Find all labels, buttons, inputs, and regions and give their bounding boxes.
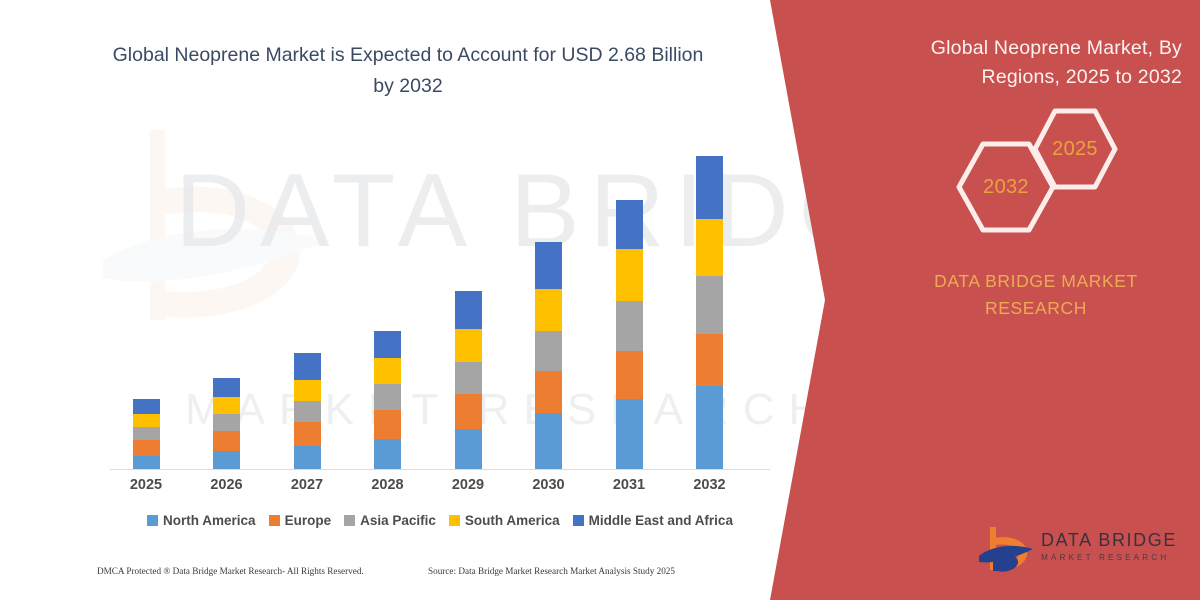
legend-label: Middle East and Africa <box>589 513 733 528</box>
data-bridge-logo: DATA BRIDGE MARKET RESEARCH <box>977 522 1182 580</box>
bar-2029[interactable] <box>455 291 482 469</box>
bar-segment[interactable] <box>696 276 723 334</box>
bar-segment[interactable] <box>535 371 562 413</box>
x-axis-label-2026: 2026 <box>197 477 257 493</box>
logo-text-line1: DATA BRIDGE <box>1041 530 1181 551</box>
logo-text-line2: MARKET RESEARCH <box>1041 551 1181 564</box>
logo-mark-icon <box>977 524 1035 576</box>
bar-segment[interactable] <box>535 331 562 371</box>
footer-source: Source: Data Bridge Market Research Mark… <box>428 566 675 576</box>
legend-item[interactable]: Middle East and Africa <box>573 513 733 528</box>
bar-segment[interactable] <box>535 242 562 289</box>
bar-segment[interactable] <box>535 413 562 469</box>
bar-segment[interactable] <box>696 219 723 276</box>
hexagon-2032: 2032 <box>956 141 1056 233</box>
legend-swatch-icon <box>449 515 460 526</box>
bar-2025[interactable] <box>133 399 160 469</box>
legend-swatch-icon <box>573 515 584 526</box>
bar-segment[interactable] <box>455 429 482 469</box>
bar-2032[interactable] <box>696 156 723 469</box>
bar-segment[interactable] <box>294 422 321 446</box>
bar-segment[interactable] <box>294 380 321 401</box>
bar-2028[interactable] <box>374 331 401 469</box>
bar-2031[interactable] <box>616 200 643 469</box>
infographic-root: DATA BRIDGE MARKET RESEARCH Global Neopr… <box>0 0 1200 600</box>
bar-segment[interactable] <box>616 399 643 469</box>
x-axis-label-2032: 2032 <box>680 477 740 493</box>
bar-segment[interactable] <box>616 301 643 351</box>
bar-segment[interactable] <box>133 427 160 440</box>
bar-segment[interactable] <box>455 362 482 394</box>
bar-2027[interactable] <box>294 353 321 469</box>
legend-label: Europe <box>285 513 332 528</box>
hexagon-2032-label: 2032 <box>956 141 1056 233</box>
footer-copyright: DMCA Protected ® Data Bridge Market Rese… <box>97 566 364 576</box>
bar-segment[interactable] <box>213 431 240 451</box>
x-axis-label-2027: 2027 <box>277 477 337 493</box>
bar-2030[interactable] <box>535 242 562 469</box>
bar-segment[interactable] <box>455 291 482 329</box>
bar-segment[interactable] <box>294 353 321 380</box>
legend-swatch-icon <box>344 515 355 526</box>
bar-segment[interactable] <box>133 399 160 414</box>
legend-item[interactable]: Europe <box>269 513 332 528</box>
bar-segment[interactable] <box>696 386 723 469</box>
legend-item[interactable]: Asia Pacific <box>344 513 436 528</box>
legend-item[interactable]: South America <box>449 513 560 528</box>
x-axis-label-2029: 2029 <box>438 477 498 493</box>
legend-label: North America <box>163 513 256 528</box>
x-axis-label-2025: 2025 <box>116 477 176 493</box>
page-title: Global Neoprene Market is Expected to Ac… <box>108 40 708 102</box>
bar-segment[interactable] <box>294 401 321 422</box>
brand-name: DATA BRIDGE MARKET RESEARCH <box>896 268 1176 322</box>
bar-segment[interactable] <box>133 414 160 427</box>
legend-label: Asia Pacific <box>360 513 436 528</box>
bar-segment[interactable] <box>374 331 401 358</box>
x-axis-line <box>110 469 770 470</box>
bar-segment[interactable] <box>696 156 723 219</box>
bar-segment[interactable] <box>535 289 562 331</box>
x-axis-label-2031: 2031 <box>599 477 659 493</box>
bar-segment[interactable] <box>616 200 643 249</box>
x-axis-label-2030: 2030 <box>519 477 579 493</box>
bar-segment[interactable] <box>213 414 240 431</box>
bar-segment[interactable] <box>616 351 643 399</box>
panel-title: Global Neoprene Market, By Regions, 2025… <box>892 34 1182 92</box>
bar-segment[interactable] <box>133 440 160 456</box>
legend-swatch-icon <box>269 515 280 526</box>
bar-segment[interactable] <box>374 439 401 469</box>
footer: DMCA Protected ® Data Bridge Market Rese… <box>0 566 790 590</box>
bar-segment[interactable] <box>616 249 643 301</box>
bar-segment[interactable] <box>696 334 723 386</box>
hexagon-group: 2025 2032 <box>902 108 1122 238</box>
legend-label: South America <box>465 513 560 528</box>
x-axis-labels: 20252026202720282029203020312032 <box>110 477 770 499</box>
logo-text: DATA BRIDGE MARKET RESEARCH <box>1041 530 1181 564</box>
bar-segment[interactable] <box>455 329 482 362</box>
bar-segment[interactable] <box>213 397 240 414</box>
bar-segment[interactable] <box>374 384 401 410</box>
bar-segment[interactable] <box>455 394 482 429</box>
bar-segment[interactable] <box>213 378 240 397</box>
bar-segment[interactable] <box>213 451 240 469</box>
x-axis-label-2028: 2028 <box>358 477 418 493</box>
bar-chart-plot <box>110 140 770 470</box>
bar-segment[interactable] <box>374 358 401 384</box>
chart-legend: North AmericaEuropeAsia PacificSouth Ame… <box>110 513 770 528</box>
legend-item[interactable]: North America <box>147 513 256 528</box>
bar-2026[interactable] <box>213 378 240 469</box>
bar-segment[interactable] <box>294 446 321 469</box>
bar-segment[interactable] <box>133 456 160 469</box>
bar-segment[interactable] <box>374 410 401 439</box>
legend-swatch-icon <box>147 515 158 526</box>
